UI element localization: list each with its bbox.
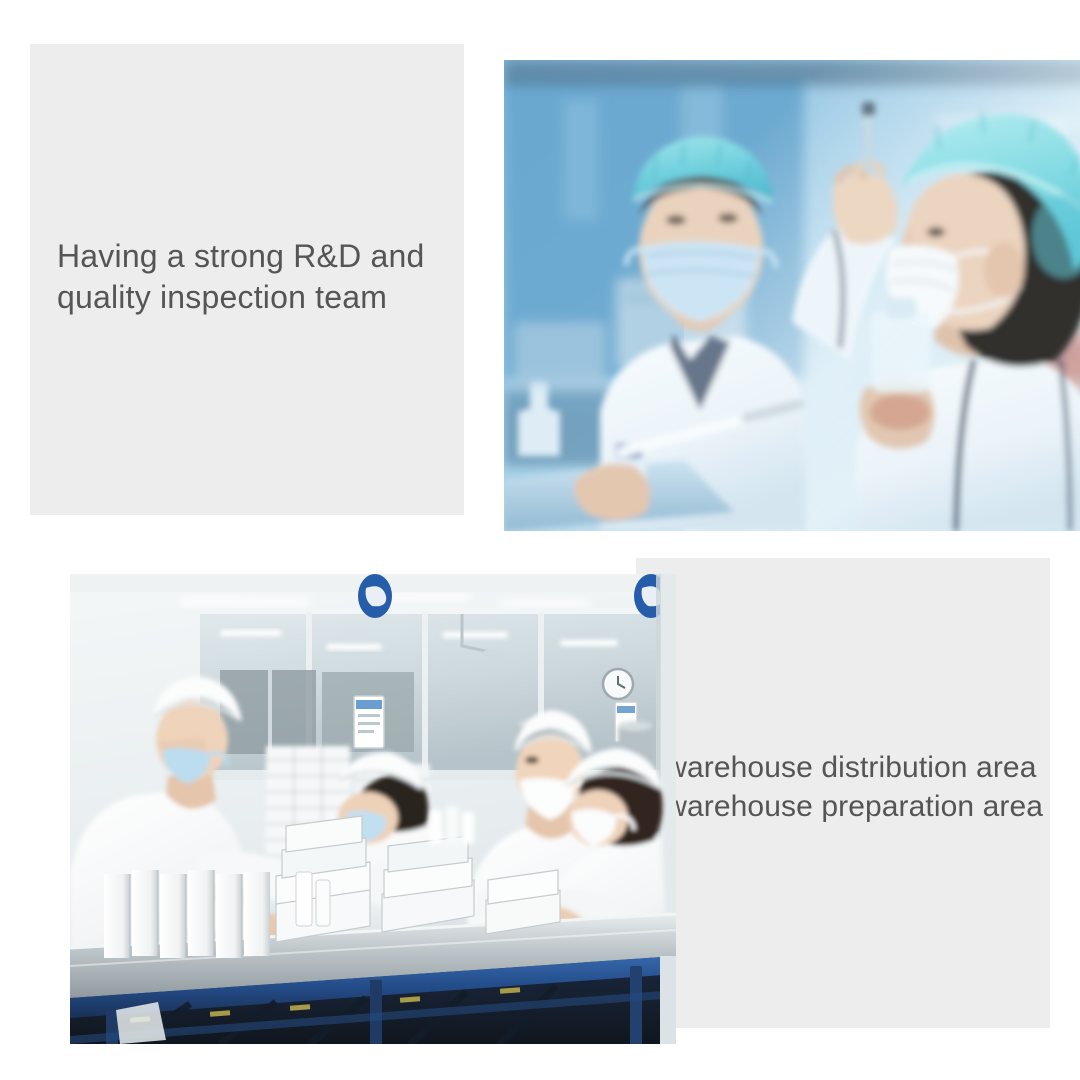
warehouse-packing-photo [70, 574, 676, 1044]
rd-quality-caption: Having a strong R&D and quality inspecti… [57, 236, 447, 318]
lab-photo-illustration [504, 60, 1080, 531]
warehouse-panel: a warehouse distribution area a warehous… [30, 558, 1050, 1028]
warehouse-caption: a warehouse distribution area a warehous… [640, 748, 1050, 826]
warehouse-photo-illustration [70, 574, 676, 1044]
rd-quality-panel: Having a strong R&D and quality inspecti… [30, 44, 1056, 515]
lab-quality-inspection-photo [504, 60, 1080, 531]
